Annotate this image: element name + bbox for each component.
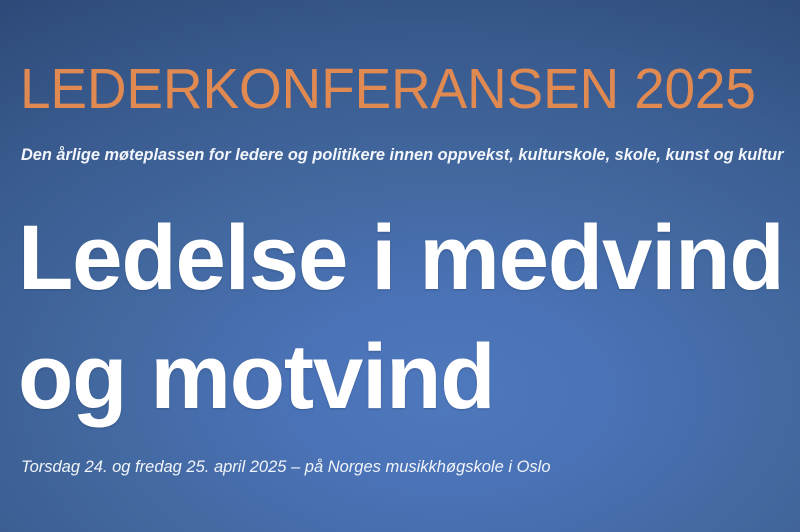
poster-content: LEDERKONFERANSEN 2025 Den årlige møtepla…: [0, 0, 800, 532]
conference-poster: LEDERKONFERANSEN 2025 Den årlige møtepla…: [0, 0, 800, 532]
conference-name: LEDERKONFERANSEN 2025: [20, 61, 756, 118]
date-and-venue: Torsdag 24. og fredag 25. april 2025 – p…: [21, 458, 551, 476]
conference-tagline: Den årlige møteplassen for ledere og pol…: [21, 146, 783, 164]
headline-line-2: og motvind: [18, 318, 784, 437]
poster-headline: Ledelse i medvind og motvind: [18, 199, 795, 437]
headline-line-1: Ledelse i medvind: [18, 199, 784, 318]
